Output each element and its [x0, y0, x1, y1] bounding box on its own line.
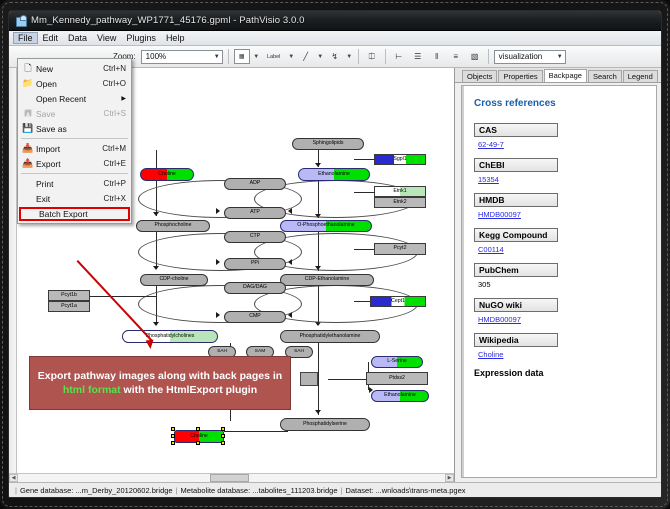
- side-panel: Objects Properties Backpage Search Legen…: [455, 68, 661, 482]
- cross-references-title: Cross references: [474, 98, 656, 109]
- xref-link-cas[interactable]: 62-49-7: [478, 140, 504, 149]
- distribute-tool-icon[interactable]: ‖: [429, 49, 445, 64]
- annotation-arrow-head: [146, 340, 155, 350]
- backpage-content: Cross references CAS 62-49-7 ChEBI 15354…: [461, 85, 657, 478]
- arrow-to-ppi-left: [216, 259, 220, 265]
- arrow-to-atp-right: [288, 208, 292, 214]
- edge-etnk: [354, 192, 374, 193]
- save-icon: 🖪: [20, 106, 36, 122]
- xref-value-chebi[interactable]: 15354: [478, 175, 656, 184]
- menu-item-import-accel: Ctrl+M: [102, 144, 129, 153]
- xref-source-cas: CAS: [474, 123, 558, 137]
- canvas-left-ruler: [9, 68, 17, 482]
- canvas-hscrollbar[interactable]: ◀ ▶: [9, 473, 454, 482]
- node-pcyt1b[interactable]: Pcyt1b: [48, 290, 90, 301]
- node-cept1[interactable]: Cept1: [370, 296, 426, 307]
- new-file-icon: 🗋: [20, 61, 36, 77]
- node-choline[interactable]: Choline: [140, 168, 194, 181]
- xref-source-nugo: NuGO wiki: [474, 298, 558, 312]
- callout-text-after: with the HtmlExport plugin: [121, 384, 258, 396]
- menu-item-batch-export-label: Batch Export: [39, 209, 126, 219]
- node-ctp[interactable]: CTP: [224, 231, 286, 243]
- chevron-down-icon: ▼: [214, 54, 220, 60]
- scroll-right-icon[interactable]: ▶: [445, 474, 454, 482]
- status-divider-1: |: [173, 486, 181, 495]
- xref-source-pubchem: PubChem: [474, 263, 558, 277]
- menu-item-new-accel: Ctrl+N: [103, 64, 129, 73]
- menu-item-save-accel: Ctrl+S: [104, 109, 129, 118]
- node-ptdss2[interactable]: Ptdss2: [366, 372, 428, 385]
- align-left-tool-icon[interactable]: ⊢: [391, 49, 407, 64]
- menu-item-new[interactable]: 🗋 New Ctrl+N: [18, 61, 131, 76]
- menu-item-new-label: New: [36, 64, 103, 74]
- xref-value-hmdb[interactable]: HMDB00097: [478, 210, 656, 219]
- file-menu-separator-1: [21, 138, 128, 139]
- submenu-arrow-icon: ▶: [121, 95, 129, 102]
- arrow-to-atp-left: [216, 208, 220, 214]
- datanode-dropdown-icon[interactable]: ▼: [253, 54, 260, 60]
- menu-item-print-accel: Ctrl+P: [104, 179, 129, 188]
- arrow-ptdserine-down: [315, 410, 321, 414]
- zoom-combo[interactable]: 100% ▼: [141, 50, 223, 64]
- anchor-tool-icon[interactable]: ⎅: [364, 49, 380, 64]
- side-panel-tabs: Objects Properties Backpage Search Legen…: [455, 68, 661, 83]
- status-dataset-value: ...wnloads\trans-meta.pgex: [375, 486, 465, 495]
- line-dropdown-icon[interactable]: ▼: [317, 54, 324, 60]
- node-sgpl1[interactable]: Sgpl1: [374, 154, 426, 165]
- label-dropdown-icon[interactable]: ▼: [288, 54, 295, 60]
- selection-handle-n[interactable]: [196, 427, 200, 431]
- menu-item-print-label: Print: [36, 179, 104, 189]
- visualization-combo[interactable]: visualization ▼: [494, 50, 566, 64]
- export-icon: 📤: [20, 158, 36, 169]
- menu-file[interactable]: File: [13, 32, 38, 44]
- edge-pcyt1: [90, 296, 156, 297]
- node-sphingolipids[interactable]: Sphingolipids: [292, 138, 364, 150]
- node-pcyt1a[interactable]: Pcyt1a: [48, 301, 90, 312]
- menu-item-import[interactable]: 📥 Import Ctrl+M: [18, 141, 131, 156]
- toolbar-divider-4: [488, 49, 489, 64]
- menu-item-import-label: Import: [36, 144, 102, 154]
- scroll-left-icon[interactable]: ◀: [9, 474, 18, 482]
- menu-plugins[interactable]: Plugins: [121, 32, 161, 44]
- node-etnk1[interactable]: Etnk1: [374, 186, 426, 197]
- node-etnk2[interactable]: Etnk2: [374, 197, 426, 208]
- xref-value-wikipedia[interactable]: Choline: [478, 350, 656, 359]
- selection-handle-e[interactable]: [221, 434, 225, 438]
- node-phosphatidylcholines[interactable]: Phosphatidylcholines: [122, 330, 218, 343]
- visualization-value: visualization: [499, 52, 543, 61]
- status-dataset-label: Dataset:: [345, 486, 373, 495]
- node-l-serine[interactable]: L-Serine: [371, 356, 423, 368]
- node-ethanolamine-top[interactable]: Ethanolamine: [298, 168, 370, 181]
- anchor-shape: [300, 372, 318, 386]
- interaction-tool-icon[interactable]: ↯: [327, 49, 343, 64]
- xref-link-kegg[interactable]: C00114: [478, 245, 504, 254]
- file-menu-popup[interactable]: 🗋 New Ctrl+N 📁 Open Ctrl+O Open Recent ▶…: [17, 58, 132, 224]
- label-tool-icon[interactable]: Label: [263, 49, 285, 64]
- menu-data[interactable]: Data: [63, 32, 92, 44]
- toolbar-divider-2: [358, 49, 359, 64]
- menu-help[interactable]: Help: [161, 32, 190, 44]
- status-metabolite-database-label: Metabolite database:: [181, 486, 251, 495]
- datanode-tool-icon[interactable]: ▦: [234, 49, 250, 64]
- annotation-callout: Export pathway images along with back pa…: [29, 356, 291, 410]
- menu-view[interactable]: View: [92, 32, 121, 44]
- screenshot-frame: Mm_Kennedy_pathway_WP1771_45176.gpml - P…: [0, 0, 670, 509]
- xref-link-hmdb[interactable]: HMDB00097: [478, 210, 521, 219]
- status-metabolite-database-value: ...tabolites_111203.bridge: [252, 486, 337, 495]
- selection-handle-s[interactable]: [196, 441, 200, 445]
- menu-edit[interactable]: Edit: [38, 32, 64, 44]
- selection-handle-sw[interactable]: [171, 441, 175, 445]
- edge-ptdss2: [328, 379, 368, 380]
- title-bar: Mm_Kennedy_pathway_WP1771_45176.gpml - P…: [9, 11, 661, 31]
- arrow-phosphocholine-down: [153, 266, 159, 270]
- menu-item-exit[interactable]: Exit Ctrl+X: [18, 191, 131, 206]
- menu-item-print[interactable]: Print Ctrl+P: [18, 176, 131, 191]
- stack-tool-icon[interactable]: ≡: [448, 49, 464, 64]
- align-center-tool-icon[interactable]: ☰: [410, 49, 426, 64]
- pathvisio-app-icon: [15, 15, 26, 26]
- interaction-dropdown-icon[interactable]: ▼: [346, 54, 353, 60]
- node-atp[interactable]: ATP: [224, 207, 286, 219]
- arrow-to-cmp-left: [216, 312, 220, 318]
- import-icon: 📥: [20, 143, 36, 154]
- edge-sgpl1: [354, 159, 374, 160]
- window-title: Mm_Kennedy_pathway_WP1771_45176.gpml - P…: [31, 15, 305, 26]
- status-divider-0: |: [12, 486, 20, 495]
- selection-handle-nw[interactable]: [171, 427, 175, 431]
- edge-pcyt2: [354, 249, 374, 250]
- node-cmp[interactable]: CMP: [224, 311, 286, 323]
- status-divider-2: |: [337, 486, 345, 495]
- arrow-choline-down: [153, 212, 159, 216]
- status-gene-database-label: Gene database:: [20, 486, 73, 495]
- line-tool-icon[interactable]: ╱: [298, 49, 314, 64]
- callout-text-before: Export pathway images along with back pa…: [38, 370, 282, 382]
- node-o-phosphoethanolamine[interactable]: O-Phosphoethanolamine: [280, 220, 372, 232]
- open-folder-icon: 📁: [20, 78, 36, 89]
- save-as-icon: 💾: [20, 123, 36, 134]
- menu-bar: File Edit Data View Plugins Help: [9, 31, 661, 46]
- xref-value-nugo[interactable]: HMDB00097: [478, 315, 656, 324]
- xref-source-chebi: ChEBI: [474, 158, 558, 172]
- xref-value-cas[interactable]: 62-49-7: [478, 140, 656, 149]
- node-dag-dag[interactable]: DAG/DAG: [224, 282, 286, 294]
- node-phosphatidylserine[interactable]: Phosphatidylserine: [280, 418, 370, 431]
- menu-item-open-accel: Ctrl+O: [103, 79, 129, 88]
- node-cdp-ethanolamine[interactable]: CDP-Ethanolamine: [280, 274, 374, 286]
- menu-item-exit-label: Exit: [36, 194, 104, 204]
- node-phosphocholine[interactable]: Phosphocholine: [136, 220, 210, 232]
- file-menu-separator-2: [21, 173, 128, 174]
- node-phosphatidylethanolamine[interactable]: Phosphatidylethanolamine: [280, 330, 380, 343]
- menu-item-export-accel: Ctrl+E: [104, 159, 129, 168]
- menu-item-batch-export[interactable]: Batch Export: [19, 207, 130, 221]
- menu-item-save-label: Save: [36, 109, 104, 119]
- selection-handle-se[interactable]: [221, 441, 225, 445]
- selection-handle-ne[interactable]: [221, 427, 225, 431]
- xref-link-nugo[interactable]: HMDB00097: [478, 315, 521, 324]
- callout-highlight: html format: [63, 384, 121, 396]
- chevron-down-icon-2: ▼: [557, 54, 563, 60]
- tab-search[interactable]: Search: [588, 70, 622, 82]
- edge-cept1: [354, 301, 370, 302]
- arrow-to-cmp-right: [288, 312, 292, 318]
- menu-item-save-as-label: Save as: [36, 124, 126, 134]
- node-cdp-choline[interactable]: CDP-choline: [140, 274, 208, 286]
- arrow-cdp-down: [153, 322, 159, 326]
- tab-properties[interactable]: Properties: [498, 70, 542, 82]
- xref-link-chebi[interactable]: 15354: [478, 175, 499, 184]
- zoom-value: 100%: [146, 52, 166, 61]
- edge-ptdetn-down: [318, 343, 319, 415]
- status-bar: | Gene database: ...m_Derby_20120602.bri…: [9, 482, 661, 497]
- menu-item-export-label: Export: [36, 159, 104, 169]
- xref-value-pubchem: 305: [478, 280, 656, 289]
- menu-item-export[interactable]: 📤 Export Ctrl+E: [18, 156, 131, 171]
- node-adp[interactable]: ADP: [224, 178, 286, 190]
- application-window: Mm_Kennedy_pathway_WP1771_45176.gpml - P…: [8, 10, 662, 498]
- group-tool-icon[interactable]: ▧: [467, 49, 483, 64]
- node-pcyt2[interactable]: Pcyt2: [374, 243, 426, 255]
- tab-backpage[interactable]: Backpage: [544, 69, 587, 82]
- tab-objects[interactable]: Objects: [462, 70, 497, 82]
- hscroll-track[interactable]: [18, 474, 445, 482]
- xref-link-wikipedia[interactable]: Choline: [478, 350, 503, 359]
- edge-choline-bottom: [224, 431, 288, 432]
- status-gene-database-value: ...m_Derby_20120602.bridge: [75, 486, 172, 495]
- menu-item-save-as[interactable]: 💾 Save as: [18, 121, 131, 136]
- expression-data-title: Expression data: [474, 368, 656, 378]
- menu-item-open[interactable]: 📁 Open Ctrl+O: [18, 76, 131, 91]
- xref-source-kegg: Kegg Compound: [474, 228, 558, 242]
- node-ethanolamine-right[interactable]: Ethanolamine: [371, 390, 429, 402]
- menu-item-open-recent-label: Open Recent: [36, 94, 121, 104]
- menu-item-open-recent[interactable]: Open Recent ▶: [18, 91, 131, 106]
- hscroll-thumb[interactable]: [210, 474, 248, 482]
- node-ppi[interactable]: PPi: [224, 258, 286, 270]
- arrow-sphingo-down: [315, 163, 321, 167]
- xref-source-hmdb: HMDB: [474, 193, 558, 207]
- arrow-to-ppi-right: [288, 259, 292, 265]
- menu-item-save: 🖪 Save Ctrl+S: [18, 106, 131, 121]
- toolbar-divider-3: [385, 49, 386, 64]
- xref-source-wikipedia: Wikipedia: [474, 333, 558, 347]
- menu-item-exit-accel: Ctrl+X: [104, 194, 129, 203]
- menu-item-open-label: Open: [36, 79, 103, 89]
- selection-handle-w[interactable]: [171, 434, 175, 438]
- tab-legend[interactable]: Legend: [623, 70, 658, 82]
- toolbar-divider: [228, 49, 229, 64]
- xref-value-kegg[interactable]: C00114: [478, 245, 656, 254]
